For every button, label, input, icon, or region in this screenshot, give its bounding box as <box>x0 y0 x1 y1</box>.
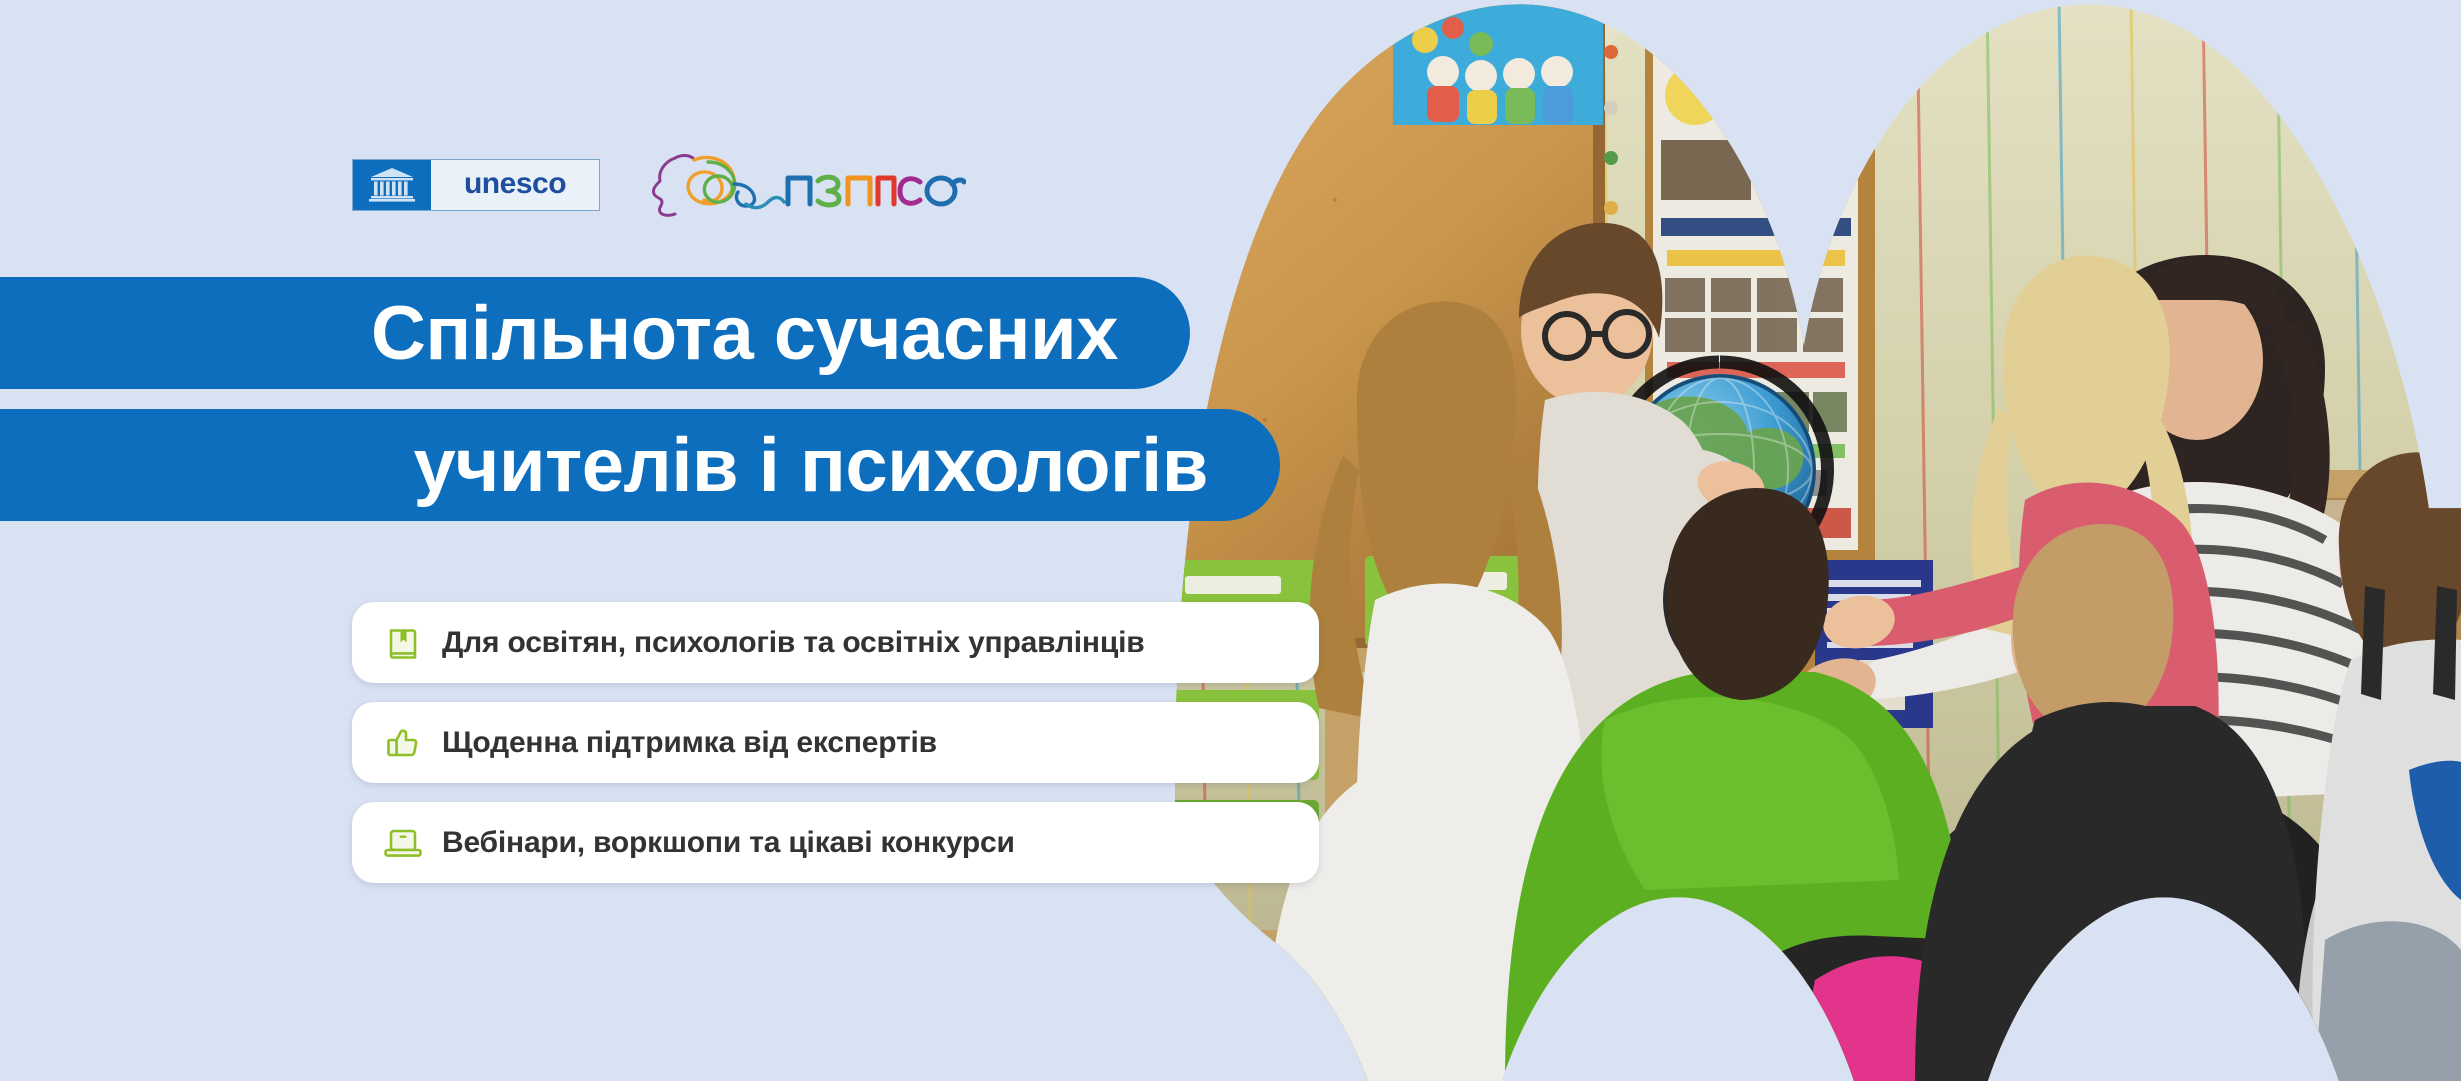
unesco-temple-emblem <box>353 160 431 210</box>
book-bookmark-icon <box>382 622 424 664</box>
classroom-photo <box>1175 0 2461 1081</box>
unesco-wordmark: unesco <box>431 160 599 210</box>
unesco-logo[interactable]: unesco <box>352 159 600 211</box>
feature-item-audience-label: Для освітян, психологів та освітніх упра… <box>442 626 1144 660</box>
feature-item-support-label: Щоденна підтримка від експертів <box>442 726 937 760</box>
feature-item-events[interactable]: Вебінари, воркшопи та цікаві конкурси <box>352 802 1319 883</box>
headline-line-2: учителів і психологів <box>0 409 1280 521</box>
pzppso-head-swirl-emblem <box>642 148 900 222</box>
headline-line-1: Спільнота сучасних <box>0 277 1190 389</box>
pzppso-logo[interactable] <box>642 148 966 222</box>
pzppso-so-letters <box>894 148 966 222</box>
logo-row: unesco <box>352 148 966 222</box>
headline-line-2-text: учителів і психологів <box>413 422 1208 509</box>
laptop-icon <box>382 822 424 864</box>
headline-line-1-text: Спільнота сучасних <box>371 290 1118 377</box>
feature-item-events-label: Вебінари, воркшопи та цікаві конкурси <box>442 826 1015 860</box>
promo-banner: unesco <box>0 0 2461 1081</box>
classroom-photo-illustration <box>1175 0 2461 1081</box>
thumbs-up-icon <box>382 722 424 764</box>
feature-item-support[interactable]: Щоденна підтримка від експертів <box>352 702 1319 783</box>
feature-list: Для освітян, психологів та освітніх упра… <box>352 602 1319 883</box>
feature-item-audience[interactable]: Для освітян, психологів та освітніх упра… <box>352 602 1319 683</box>
